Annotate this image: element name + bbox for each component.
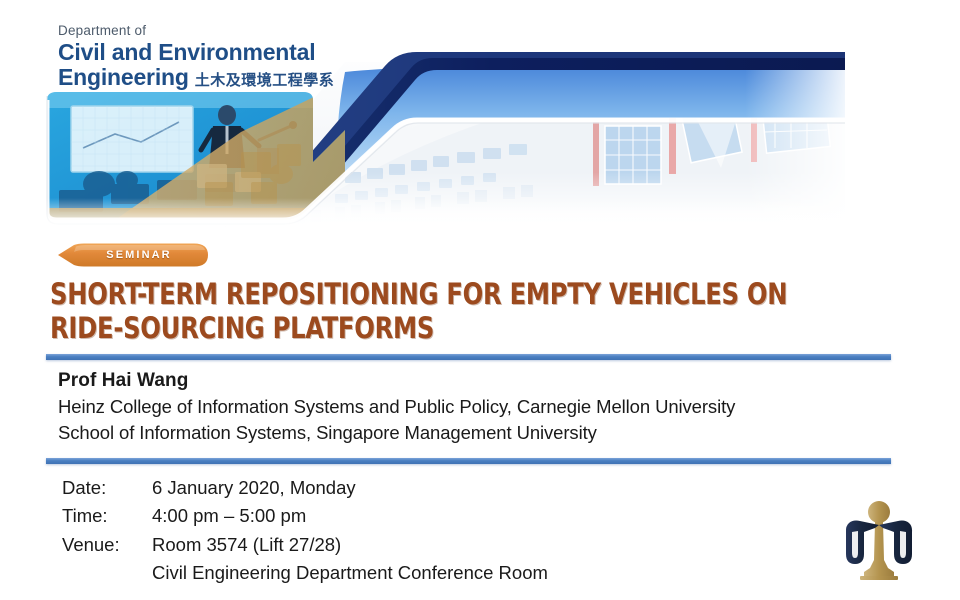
- logo-head: [868, 501, 890, 523]
- date-label: Date:: [62, 474, 152, 502]
- speaker-affiliation-2: School of Information Systems, Singapore…: [58, 420, 888, 446]
- department-identity: Department of Civil and Environmental En…: [58, 24, 334, 91]
- event-details: Date: 6 January 2020, Monday Time: 4:00 …: [62, 474, 548, 587]
- venue-value-2: Civil Engineering Department Conference …: [152, 559, 548, 587]
- time-value: 4:00 pm – 5:00 pm: [152, 502, 548, 530]
- speaker-block: Prof Hai Wang Heinz College of Informati…: [58, 368, 888, 446]
- detail-row-time: Time: 4:00 pm – 5:00 pm: [62, 502, 548, 530]
- venue-value: Room 3574 (Lift 27/28): [152, 531, 548, 559]
- divider-above-speaker: [46, 354, 891, 360]
- divider-above-details: [46, 458, 891, 464]
- logo-base: [860, 576, 898, 580]
- department-prefix: Department of: [58, 24, 334, 38]
- seminar-title: SHORT-TERM REPOSITIONING FOR EMPTY VEHIC…: [50, 278, 794, 345]
- date-value: 6 January 2020, Monday: [152, 474, 548, 502]
- detail-row-date: Date: 6 January 2020, Monday: [62, 474, 548, 502]
- logo-left-arm: [846, 521, 879, 564]
- hkust-logo-mark: [840, 498, 918, 584]
- venue-label: Venue:: [62, 531, 152, 559]
- speaker-name: Prof Hai Wang: [58, 368, 888, 394]
- department-name-line1: Civil and Environmental: [58, 40, 334, 66]
- department-name-chinese: 土木及環境工程學系: [195, 72, 335, 89]
- time-label: Time:: [62, 502, 152, 530]
- detail-row-venue: Venue: Room 3574 (Lift 27/28): [62, 531, 548, 559]
- hkust-logo: [840, 498, 918, 584]
- logo-right-arm: [879, 521, 912, 564]
- department-name-line2: Engineering: [58, 64, 189, 90]
- detail-row-venue-cont: Venue: Civil Engineering Department Conf…: [62, 559, 548, 587]
- speaker-affiliation-1: Heinz College of Information Systems and…: [58, 394, 888, 420]
- seminar-badge: SEMINAR: [58, 243, 208, 267]
- badge-label: SEMINAR: [58, 243, 208, 267]
